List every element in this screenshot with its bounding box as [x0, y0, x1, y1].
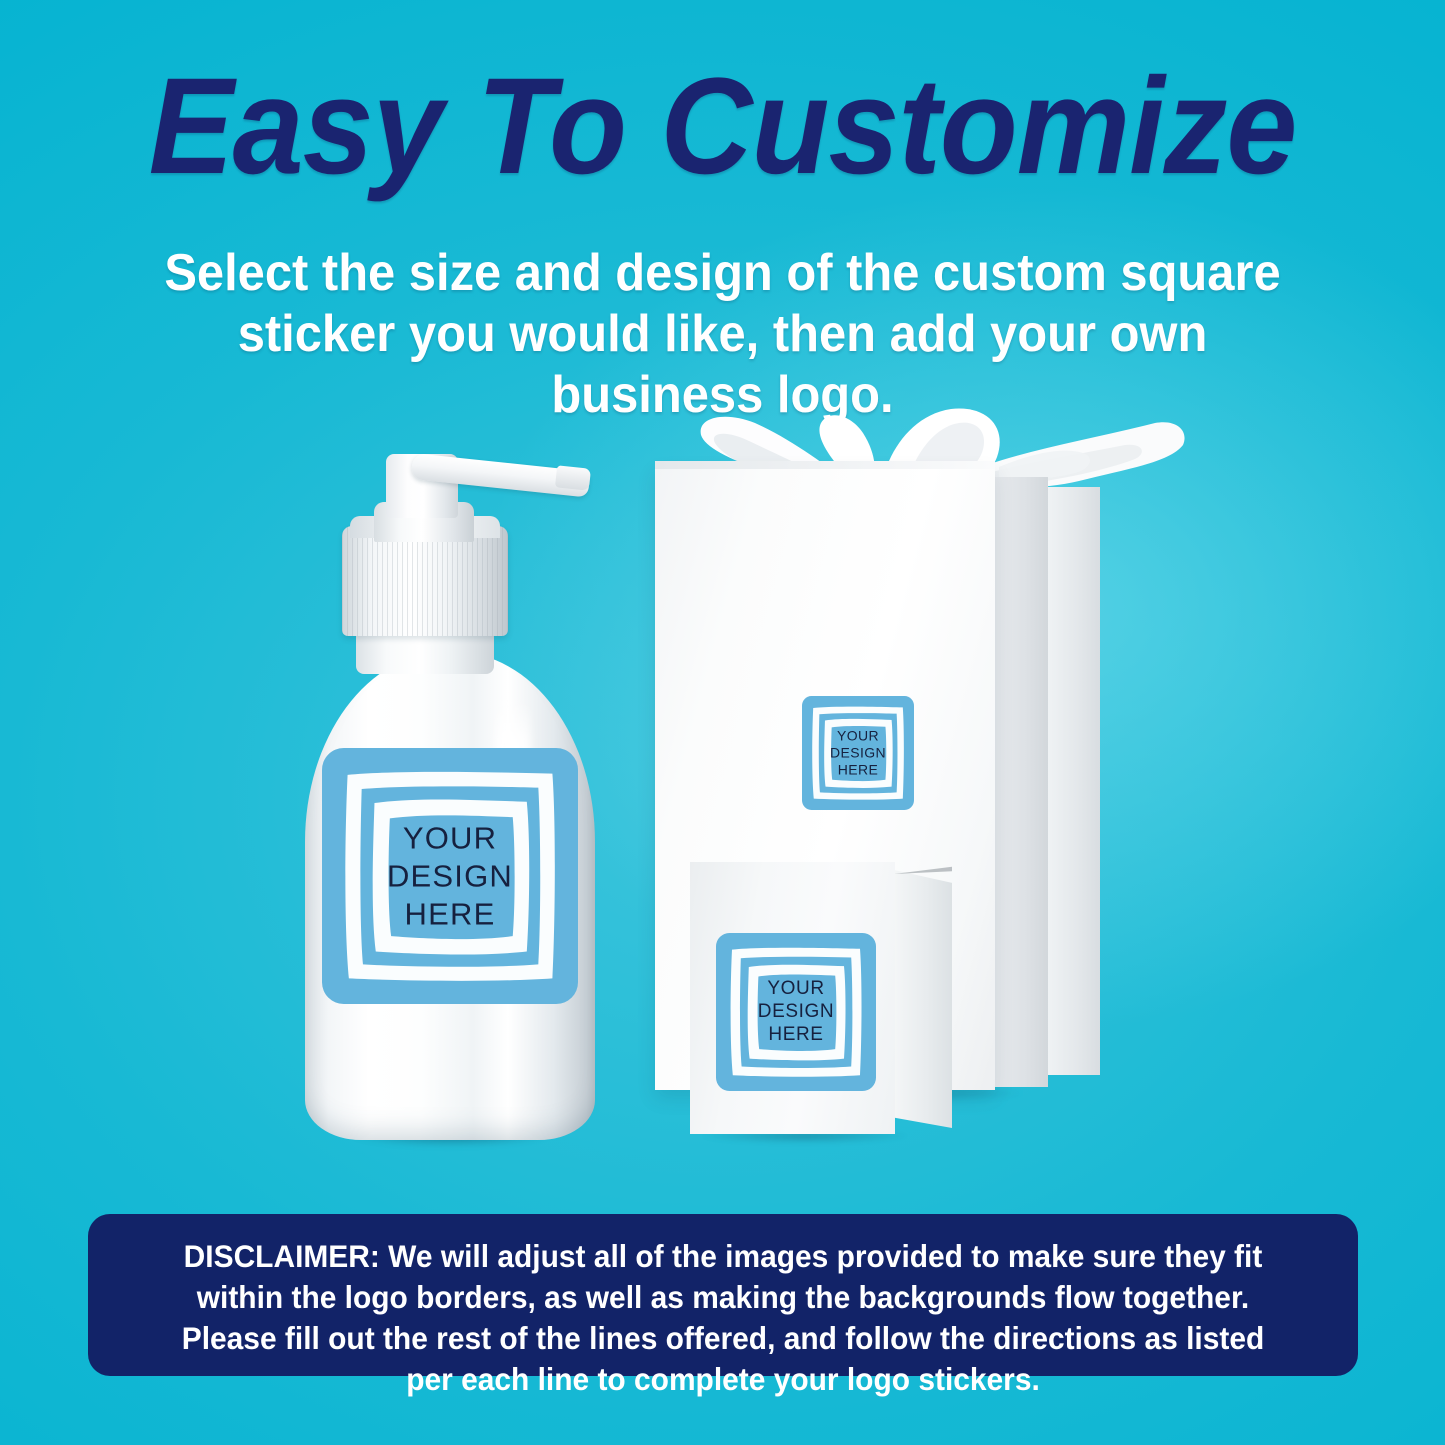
sticker-text-block: YOUR DESIGN HERE — [802, 727, 914, 778]
giftbox-top-edge — [655, 461, 995, 469]
sticker-line-3: HERE — [322, 895, 578, 933]
page-subtitle: Select the size and design of the custom… — [156, 243, 1289, 425]
sticker-line-3: HERE — [716, 1024, 876, 1047]
sticker-line-1: YOUR — [802, 727, 914, 744]
page-title: Easy To Customize — [51, 58, 1395, 195]
disclaimer-box: DISCLAIMER: We will adjust all of the im… — [88, 1214, 1358, 1376]
sticker-text-block: YOUR DESIGN HERE — [716, 977, 876, 1047]
sticker-line-3: HERE — [802, 762, 914, 779]
sticker-text-block: YOUR DESIGN HERE — [322, 819, 578, 932]
pump-collar — [342, 526, 508, 636]
cube-side-face — [894, 870, 952, 1128]
sticker-line-2: DESIGN — [802, 744, 914, 761]
sticker-line-1: YOUR — [322, 819, 578, 857]
sticker-label-cube: YOUR DESIGN HERE — [716, 933, 876, 1091]
promo-banner: Easy To Customize Select the size and de… — [0, 0, 1445, 1445]
sticker-line-2: DESIGN — [716, 1000, 876, 1023]
disclaimer-label: DISCLAIMER: — [184, 1238, 380, 1274]
giftbox-side-panel-outer — [1048, 487, 1100, 1075]
sticker-label-bottle: YOUR DESIGN HERE — [322, 748, 578, 1004]
sticker-label-giftbox: YOUR DESIGN HERE — [802, 696, 914, 810]
disclaimer-text: DISCLAIMER: We will adjust all of the im… — [163, 1236, 1282, 1400]
giftbox-side-panel-inner — [994, 477, 1048, 1087]
sticker-line-2: DESIGN — [322, 857, 578, 895]
sticker-line-1: YOUR — [716, 977, 876, 1000]
pump-spout-tip — [555, 465, 591, 490]
